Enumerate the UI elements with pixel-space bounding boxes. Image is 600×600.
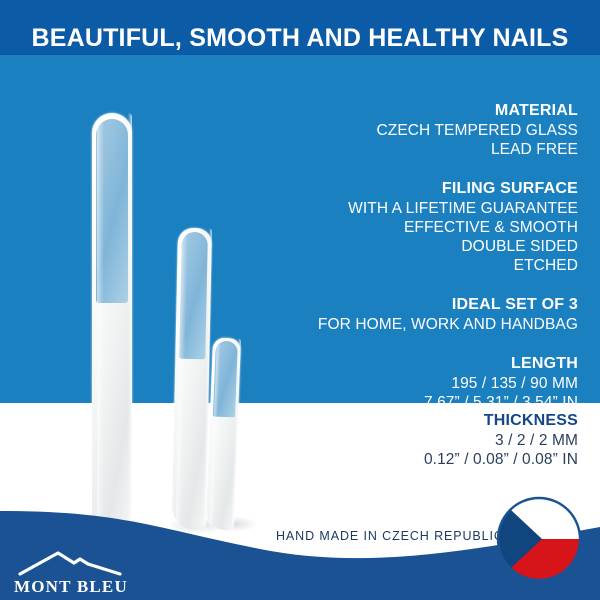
spec-line: 3 / 2 / 2 MM	[198, 431, 578, 450]
spec-heading: IDEAL SET OF 3	[198, 294, 578, 315]
spec-group-material: MATERIAL CZECH TEMPERED GLASS LEAD FREE	[198, 100, 578, 159]
specs-list-thickness: THICKNESS 3 / 2 / 2 MM 0.12” / 0.08” / 0…	[198, 410, 578, 488]
czech-flag-icon	[496, 496, 582, 582]
spec-line: WITH A LIFETIME GUARANTEE	[198, 199, 578, 218]
glass-nail-file-large	[92, 113, 132, 531]
spec-heading: FILING SURFACE	[198, 178, 578, 199]
spec-line: 195 / 135 / 90 MM	[198, 374, 578, 393]
file-gloss-highlight	[97, 121, 103, 522]
product-infographic: BEAUTIFUL, SMOOTH AND HEALTHY NAILS MATE…	[0, 0, 600, 600]
brand-name: MONT BLEU	[14, 577, 126, 596]
spec-line: 0.12” / 0.08” / 0.08” IN	[198, 450, 578, 469]
page-title: BEAUTIFUL, SMOOTH AND HEALTHY NAILS	[0, 23, 600, 53]
spec-line: CZECH TEMPERED GLASS	[198, 121, 578, 140]
mountain-icon	[18, 548, 122, 576]
spec-group-filing-surface: FILING SURFACE WITH A LIFETIME GUARANTEE…	[198, 178, 578, 275]
spec-group-ideal-set: IDEAL SET OF 3 FOR HOME, WORK AND HANDBA…	[198, 294, 578, 334]
spec-heading: THICKNESS	[198, 410, 578, 431]
handmade-label: HAND MADE IN CZECH REPUBLIC	[276, 529, 504, 543]
specs-list: MATERIAL CZECH TEMPERED GLASS LEAD FREE …	[198, 100, 578, 431]
file-edge-highlight	[128, 113, 132, 531]
spec-heading: MATERIAL	[198, 100, 578, 121]
spec-group-thickness: THICKNESS 3 / 2 / 2 MM 0.12” / 0.08” / 0…	[198, 410, 578, 469]
spec-heading: LENGTH	[198, 353, 578, 374]
spec-group-length: LENGTH 195 / 135 / 90 MM 7.67” / 5.31” /…	[198, 353, 578, 412]
spec-line: EFFECTIVE & SMOOTH	[198, 218, 578, 237]
spec-line: FOR HOME, WORK AND HANDBAG	[198, 315, 578, 334]
brand-logo: MONT BLEU	[14, 548, 126, 596]
spec-line: DOUBLE SIDED	[198, 237, 578, 256]
spec-line: LEAD FREE	[198, 140, 578, 159]
spec-line: ETCHED	[198, 256, 578, 275]
